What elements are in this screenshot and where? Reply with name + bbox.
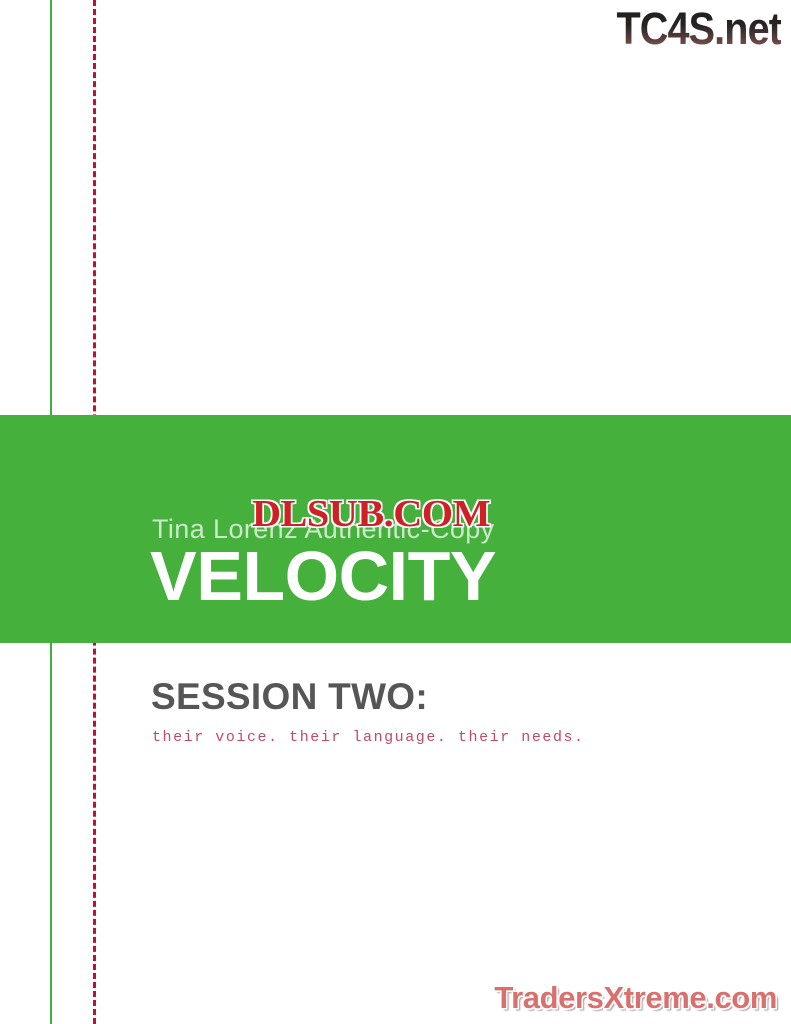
session-subtitle: their voice. their language. their needs… — [152, 729, 585, 746]
tradersxtreme-watermark: TradersXtreme.com — [494, 980, 777, 1016]
session-heading: SESSION TWO: — [151, 676, 428, 718]
tc4s-watermark: TC4S.net — [616, 3, 781, 55]
document-title: VELOCITY — [150, 541, 496, 611]
dlsub-watermark: DLSUB.COM — [252, 492, 490, 536]
document-page: Tina Lorenz Authentic-Copy VELOCITY DLSU… — [0, 0, 791, 1024]
